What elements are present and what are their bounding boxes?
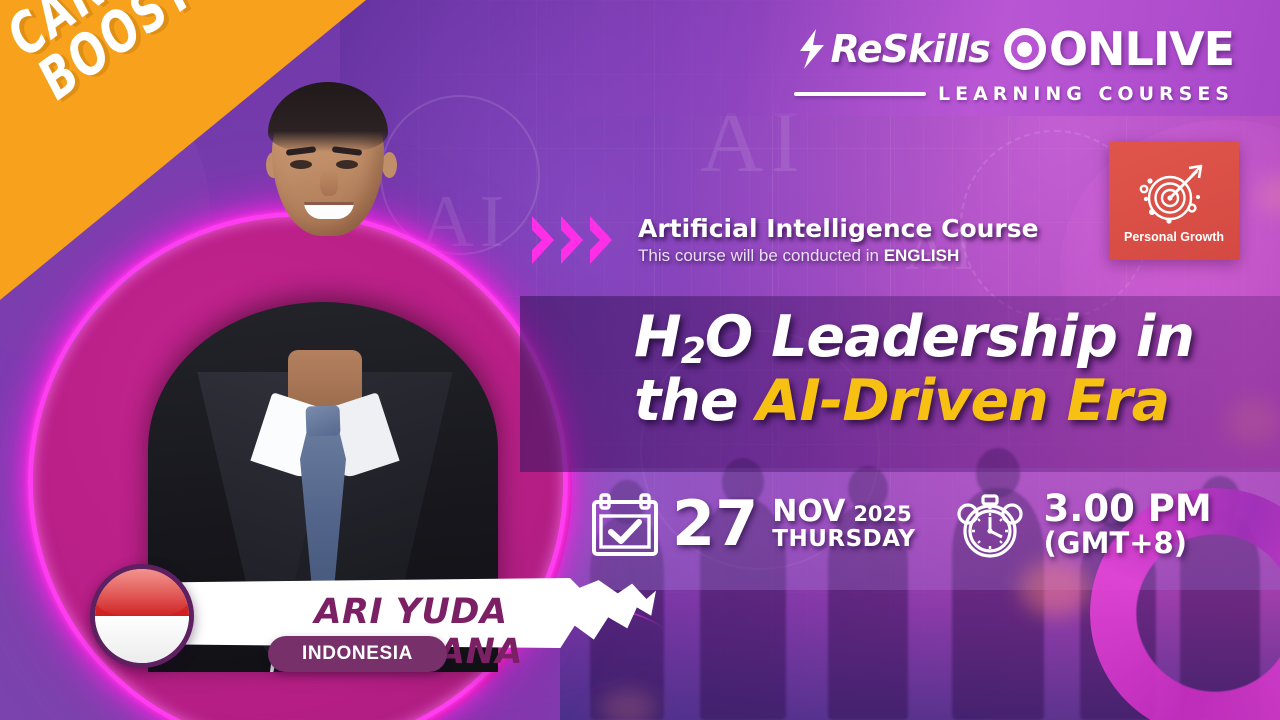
logo-divider-rule [794, 92, 926, 96]
event-timezone: (GMT+8) [1044, 528, 1212, 558]
lens-flare [1020, 560, 1090, 616]
category-label: Personal Growth [1124, 230, 1224, 244]
chevron-right-icon [530, 214, 556, 266]
calendar-check-icon [592, 492, 658, 556]
brand-logo[interactable]: ReSkills ONLIVE LEARNING COURSES [794, 22, 1234, 105]
title-line2-white: the [634, 368, 756, 434]
chevron-group [530, 214, 614, 266]
target-arrow-icon [1137, 162, 1211, 228]
brand-tagline: LEARNING COURSES [938, 83, 1234, 105]
reskills-wordmark: ReSkills [794, 27, 989, 71]
chevron-right-icon [559, 214, 585, 266]
reskills-label: ReSkills [830, 27, 989, 71]
stopwatch-icon [950, 488, 1030, 560]
time-block: 3.00 PM (GMT+8) [950, 488, 1212, 560]
event-time: 3.00 PM [1044, 490, 1212, 528]
course-language-note: This course will be conducted in ENGLISH [638, 246, 1039, 266]
category-card[interactable]: Personal Growth [1109, 142, 1239, 260]
onlive-wordmark: ONLIVE [1004, 22, 1234, 76]
event-day: 27 [672, 496, 758, 552]
title-line1-prefix: H [634, 304, 681, 370]
live-record-icon [1004, 28, 1046, 70]
course-name: Artificial Intelligence Course [638, 214, 1039, 243]
course-language: ENGLISH [884, 246, 960, 265]
page-title: H2O Leadership in the AI-Driven Era [634, 306, 1234, 434]
course-header: Artificial Intelligence Course This cour… [530, 214, 1039, 266]
title-subscript: 2 [681, 331, 705, 372]
indonesia-flag-icon [90, 564, 194, 668]
title-line1-rest: O Leadership in [705, 304, 1194, 370]
speaker-portrait [120, 52, 520, 672]
date-block: 27 NOV 2025 THURSDAY [592, 492, 916, 556]
speaker-country-badge: INDONESIA [268, 636, 447, 672]
event-weekday: THURSDAY [772, 528, 915, 551]
onlive-label: ONLIVE [1049, 22, 1234, 76]
schedule-row: 27 NOV 2025 THURSDAY [592, 488, 1212, 560]
event-year: 2025 [853, 504, 911, 525]
event-month: NOV [772, 497, 845, 528]
language-note-prefix: This course will be conducted in [638, 246, 884, 265]
title-line2-accent: AI-Driven Era [756, 368, 1169, 434]
chevron-right-icon [588, 214, 614, 266]
lightning-bolt-icon [794, 27, 834, 71]
webinar-poster: AI AI AI [0, 0, 1280, 720]
lens-flare [600, 690, 656, 720]
